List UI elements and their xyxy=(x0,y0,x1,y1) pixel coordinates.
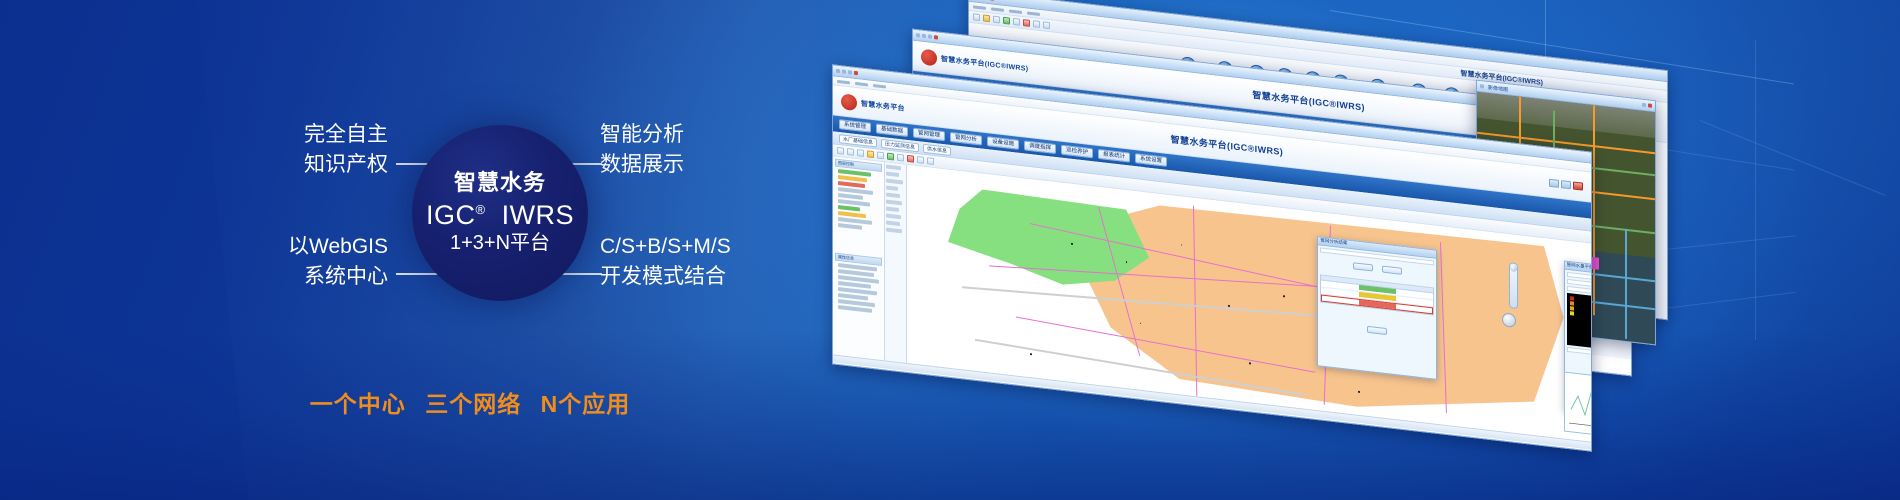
window-icon xyxy=(916,33,920,37)
layer-tree-panel[interactable]: 图层控制 属性信息 xyxy=(833,156,885,360)
pipe-node xyxy=(1030,353,1032,355)
legend-entry xyxy=(1570,311,1576,317)
layer-tool-icon[interactable] xyxy=(917,156,924,164)
close-button[interactable] xyxy=(1573,181,1583,190)
tagline-part1: 一个中心 xyxy=(310,391,406,417)
print-tool-icon[interactable] xyxy=(897,154,904,162)
pipe-node xyxy=(1228,305,1230,307)
brand-product-line: IGC® IWRS xyxy=(426,200,574,230)
toolbar-icon[interactable] xyxy=(983,14,990,22)
menu-item[interactable] xyxy=(1009,9,1022,13)
donut-legend xyxy=(1570,296,1576,317)
minimize-button[interactable] xyxy=(1549,178,1559,187)
palette-tool[interactable] xyxy=(886,221,900,227)
feature-top-left: 完全自主 知识产权 xyxy=(188,120,388,180)
app-logo-text: 智慧水务平台 xyxy=(861,98,905,113)
tagline-part3: N个应用 xyxy=(541,391,631,417)
trend-chart-panel[interactable] xyxy=(1564,371,1591,441)
palette-tool[interactable] xyxy=(886,179,903,185)
menu-item[interactable] xyxy=(855,81,868,85)
feature-top-right: 智能分析 数据展示 xyxy=(600,120,684,180)
palette-tool[interactable] xyxy=(886,186,898,191)
donut-caption: 供水量 102.25 xyxy=(1579,297,1591,314)
identify-tool-icon[interactable] xyxy=(887,153,894,161)
toolbar-icon[interactable] xyxy=(1033,20,1040,28)
feature-top-right-line2: 数据展示 xyxy=(600,150,684,180)
menu-item[interactable] xyxy=(991,7,1004,11)
label-tool-icon[interactable] xyxy=(927,157,934,165)
nav-button-settings[interactable]: 系统设置 xyxy=(1135,153,1167,167)
map-tool-palette[interactable] xyxy=(885,162,907,363)
company-logo-icon xyxy=(841,93,857,111)
screenshot-stack: 智慧水务平台(IGC®IWRS) 管网数据 采集 管网普查 建库 查询 统计 分… xyxy=(960,30,1840,450)
dialog-chart-footer-field[interactable] xyxy=(1567,347,1591,365)
feature-top-right-line1: 智能分析 xyxy=(600,120,684,150)
nav-button-reports[interactable]: 报表统计 xyxy=(1098,149,1130,163)
brand-cn-title: 智慧水务 xyxy=(454,171,546,196)
concept-diagram: 完全自主 知识产权 以WebGIS 系统中心 智能分析 数据展示 C/S+B/S… xyxy=(0,0,940,500)
window-icon xyxy=(836,69,840,73)
feature-bottom-right: C/S+B/S+M/S 开发模式结合 xyxy=(600,232,731,292)
nav-button-basedata[interactable]: 基础数据 xyxy=(876,123,908,137)
feature-bottom-left-line1: 以WebGIS xyxy=(168,232,388,262)
brand-circle: 智慧水务 IGC® IWRS 1+3+N平台 xyxy=(412,125,588,301)
nav-button-inspection[interactable]: 巡检养护 xyxy=(1061,144,1093,158)
palette-tool[interactable] xyxy=(886,228,902,234)
nav-button-dispatch[interactable]: 调度指挥 xyxy=(1024,140,1056,154)
tagline: 一个中心 三个网络 N个应用 xyxy=(0,385,940,419)
delete-tool-icon[interactable] xyxy=(907,155,914,163)
close-icon[interactable] xyxy=(854,71,858,75)
nav-button-analysis[interactable]: 管网分析 xyxy=(950,132,982,146)
feature-bottom-right-line1: C/S+B/S+M/S xyxy=(600,232,731,262)
tagline-part2: 三个网络 xyxy=(425,391,521,417)
palette-tool[interactable] xyxy=(886,165,901,171)
minimize-icon[interactable] xyxy=(842,69,846,73)
feature-top-left-line1: 完全自主 xyxy=(188,120,388,150)
layer-item[interactable] xyxy=(838,223,862,230)
pipe-node xyxy=(1249,363,1251,365)
toolbar-icon[interactable] xyxy=(973,13,980,21)
nav-button-equipment[interactable]: 设备设施 xyxy=(987,136,1019,150)
menu-item[interactable] xyxy=(873,84,886,88)
palette-tool[interactable] xyxy=(886,193,900,199)
minimize-icon[interactable] xyxy=(1642,103,1646,107)
feature-top-left-line2: 知识产权 xyxy=(188,150,388,180)
feature-bottom-right-line2: 开发模式结合 xyxy=(600,262,731,292)
close-icon[interactable] xyxy=(990,0,994,1)
brand-platform-label: 1+3+N平台 xyxy=(450,232,550,254)
pipe-node xyxy=(1358,391,1360,393)
trend-series xyxy=(1571,381,1591,429)
dialog-ok-button[interactable] xyxy=(1353,262,1373,271)
brand-product-iwrs: IWRS xyxy=(502,200,575,230)
dialog-cancel-button[interactable] xyxy=(1382,265,1402,274)
toolbar-icon[interactable] xyxy=(1013,18,1020,26)
palette-tool[interactable] xyxy=(886,214,901,220)
dialog-pipe-analysis[interactable]: 管网分析结果 xyxy=(1317,236,1437,380)
toolbar-icon[interactable] xyxy=(993,16,1000,24)
palette-tool[interactable] xyxy=(886,200,902,206)
toolbar-icon[interactable] xyxy=(1003,17,1010,25)
brand-product-igc: IGC xyxy=(426,200,476,230)
palette-tool[interactable] xyxy=(886,207,899,212)
dialog-export-button[interactable] xyxy=(1367,326,1387,335)
pipe-node xyxy=(1071,243,1073,245)
sat-road-orange xyxy=(1593,105,1595,315)
nav-button-pipenet[interactable]: 管网管理 xyxy=(913,127,945,141)
zoom-out-tool-icon[interactable] xyxy=(857,149,864,157)
pipe-node xyxy=(1181,244,1183,246)
minimize-icon[interactable] xyxy=(922,34,926,38)
trend-chart-svg xyxy=(1565,372,1591,441)
menu-item[interactable] xyxy=(973,5,986,9)
window-icon xyxy=(1480,84,1484,88)
company-logo-icon xyxy=(921,48,937,66)
close-icon[interactable] xyxy=(934,35,938,39)
feature-bottom-left-line2: 系统中心 xyxy=(168,262,388,292)
feature-bottom-left: 以WebGIS 系统中心 xyxy=(168,232,388,292)
pan-tool-icon[interactable] xyxy=(837,147,844,155)
sat-road-blue xyxy=(1625,229,1627,339)
measure-tool-icon[interactable] xyxy=(877,151,884,159)
pipe-node xyxy=(1283,295,1285,297)
nav-button-system[interactable]: 系统管理 xyxy=(839,119,871,133)
maximize-button[interactable] xyxy=(1561,180,1571,189)
zoom-in-tool-icon[interactable] xyxy=(847,148,854,156)
banner-root: 完全自主 知识产权 以WebGIS 系统中心 智能分析 数据展示 C/S+B/S… xyxy=(0,0,1900,500)
registered-mark-icon: ® xyxy=(475,202,485,217)
window-mid-logo-text: 智慧水务平台(IGC®IWRS) xyxy=(941,53,1028,73)
subnav-button-supply[interactable]: 供水信息 xyxy=(923,143,951,155)
maximize-icon[interactable] xyxy=(928,34,932,38)
toolbar-icon[interactable] xyxy=(1043,21,1050,29)
map-zoom-slider[interactable] xyxy=(1509,262,1518,309)
maximize-icon[interactable] xyxy=(848,70,852,74)
slider-knob[interactable] xyxy=(1510,264,1517,272)
close-icon[interactable] xyxy=(1648,103,1652,107)
menu-item[interactable] xyxy=(837,79,850,83)
palette-tool[interactable] xyxy=(886,172,899,178)
select-tool-icon[interactable] xyxy=(867,150,874,158)
toolbar-icon[interactable] xyxy=(1023,19,1030,27)
menu-item[interactable] xyxy=(1027,11,1040,15)
window-controls[interactable] xyxy=(1549,178,1583,190)
